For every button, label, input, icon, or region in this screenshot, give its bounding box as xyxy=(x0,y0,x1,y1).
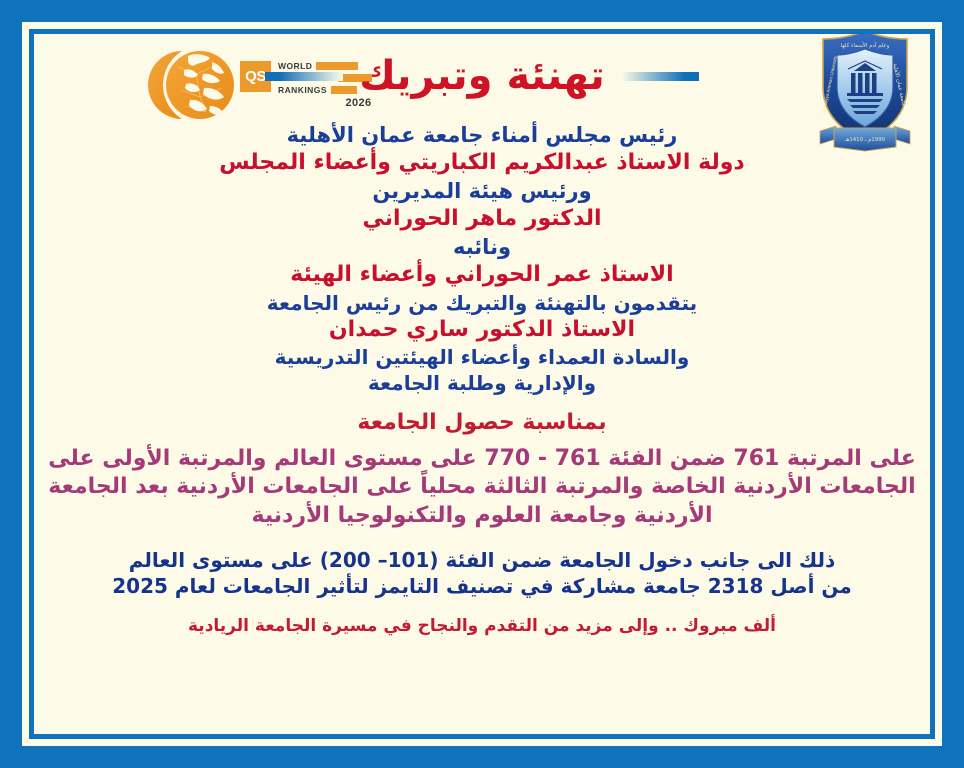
heading-rule-right xyxy=(621,72,699,81)
heading-title: تهنئة وتبريك xyxy=(359,56,605,96)
congratulations-poster: وعلم آدم الأسماء كلها جامعة عمان الأهلية… xyxy=(0,0,964,768)
body-line-1: رئيس مجلس أمناء جامعة عمان الأهلية xyxy=(42,122,922,149)
body-line-2: دولة الاستاذ عبدالكريم الكباريتي وأعضاء … xyxy=(42,149,922,178)
body-line-6: الاستاذ عمر الحوراني وأعضاء الهيئة xyxy=(42,261,922,290)
body-line-9: والسادة العمداء وأعضاء الهيئتين التدريسي… xyxy=(42,344,922,370)
body-line-7: يتقدمون بالتهنئة والتبريك من رئيس الجامع… xyxy=(42,290,922,316)
occasion-line: بمناسبة حصول الجامعة xyxy=(42,409,922,438)
qs-year: 2026 xyxy=(278,97,372,109)
spacer-2 xyxy=(42,438,922,445)
body-line-8: الاستاذ الدكتور ساري حمدان xyxy=(42,316,922,345)
spacer-3 xyxy=(42,531,922,547)
ranking-line-2: الجامعات الأردنية الخاصة والمرتبة الثالث… xyxy=(42,473,922,502)
poster-content: وعلم آدم الأسماء كلها جامعة عمان الأهلية… xyxy=(34,34,930,734)
body-line-3: ورئيس هيئة المديرين xyxy=(42,178,922,205)
spacer-4 xyxy=(42,599,922,615)
ranking-line-1: على المرتبة 761 ضمن الفئة 761 - 770 على … xyxy=(42,445,922,474)
poster-heading: تهنئة وتبريك xyxy=(34,56,930,96)
times-ranking-line-2: من أصل 2318 جامعة مشاركة في تصنيف التايم… xyxy=(42,573,922,599)
closing-line: ألف مبروك .. وإلى مزيد من التقدم والنجاح… xyxy=(42,615,922,637)
ranking-line-3: الأردنية وجامعة العلوم والتكنولوجيا الأر… xyxy=(42,502,922,531)
body-line-5: ونائبه xyxy=(42,234,922,261)
poster-body: رئيس مجلس أمناء جامعة عمان الأهلية دولة … xyxy=(42,122,922,637)
times-ranking-line-1: ذلك الى جانب دخول الجامعة ضمن الفئة (101… xyxy=(42,547,922,573)
svg-text:وعلم آدم الأسماء كلها: وعلم آدم الأسماء كلها xyxy=(841,41,890,49)
body-line-4: الدكتور ماهر الحوراني xyxy=(42,205,922,234)
spacer-1 xyxy=(42,396,922,409)
heading-rule-left xyxy=(265,72,343,81)
body-line-10: والإدارية وطلبة الجامعة xyxy=(42,370,922,396)
